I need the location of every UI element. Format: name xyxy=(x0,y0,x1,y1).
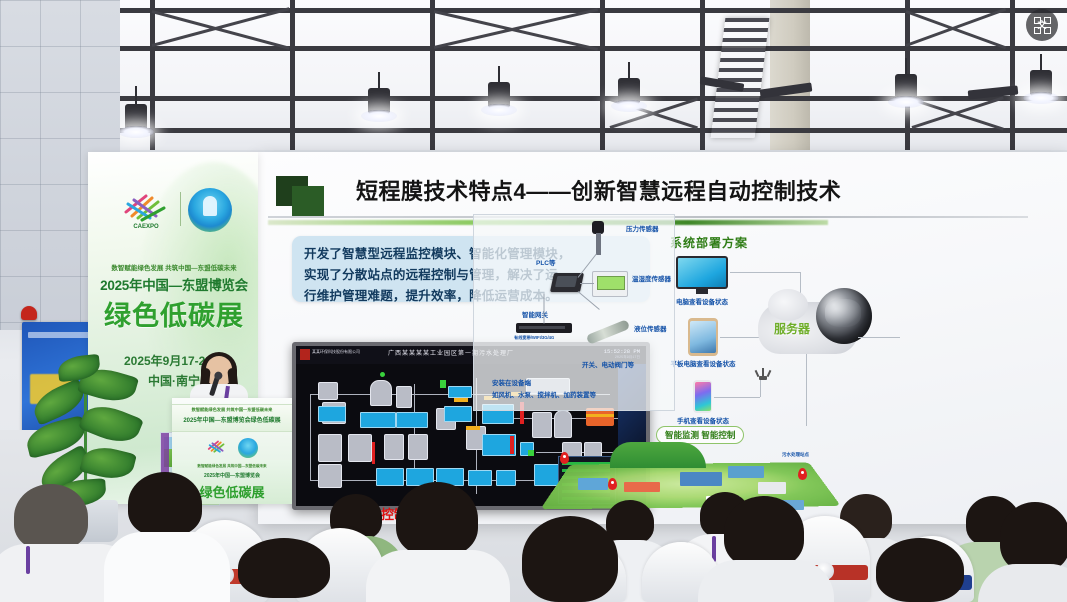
sensor-label-temp: 温湿度传感器 xyxy=(632,275,671,284)
gateway-sublabel: 有线宽带/WIFI/3G/4G xyxy=(514,335,554,341)
status-indicator xyxy=(454,398,468,402)
temp-humidity-sensor-icon xyxy=(592,271,628,297)
audience-shoulders xyxy=(366,550,510,602)
audience-head xyxy=(606,500,654,544)
panel-heading-bar xyxy=(28,332,90,338)
podium-tagline: 数智赋能绿色发展 共筑中国—东盟低碳未来 xyxy=(172,407,292,413)
caexpo-logo-icon: CAEXPO xyxy=(120,190,172,230)
connector-line xyxy=(544,294,545,324)
scada-company-name: 某某环保科技股份有限公司 xyxy=(312,349,360,355)
diagram-title: 系统部署方案 xyxy=(670,234,748,251)
audience-head xyxy=(238,538,330,598)
audience-shoulders xyxy=(698,560,834,602)
truss-post xyxy=(430,0,435,150)
banner-title-line2: 绿色低碳展 xyxy=(96,294,252,333)
truss-post xyxy=(700,0,705,150)
server-label: 服务器 xyxy=(774,320,810,337)
process-tank xyxy=(318,406,346,422)
translate-glyph: 文 xyxy=(1034,17,1051,34)
connector-line xyxy=(714,397,760,398)
wifi-router-icon xyxy=(752,368,774,380)
truss-post xyxy=(1010,0,1015,150)
pressure-sensor-icon xyxy=(592,221,604,255)
process-tank xyxy=(444,406,472,422)
status-led xyxy=(380,372,385,377)
sensor-label-level: 液位传感器 xyxy=(634,325,667,334)
level-sensor-icon xyxy=(586,319,631,345)
scan-frame-icon: 文 xyxy=(1034,17,1051,34)
cloud-server-node: 服务器 xyxy=(758,302,858,354)
audience-area xyxy=(0,442,1067,602)
client-device-monitor: 电脑查看设备状态 xyxy=(676,256,728,289)
sensor-label-pressure: 压力传感器 xyxy=(626,225,659,234)
client-label-pc: 电脑查看设备状态 xyxy=(667,298,737,307)
process-tank xyxy=(360,412,396,428)
truss-post xyxy=(150,0,155,150)
title-square-icon xyxy=(292,186,324,216)
plc-label: PLC等 xyxy=(536,259,556,268)
equipment-stripe xyxy=(586,414,614,417)
client-device-phone: 手机查看设备状态 xyxy=(693,380,712,413)
audience-head xyxy=(128,472,202,536)
process-tank xyxy=(448,386,472,398)
process-vessel xyxy=(532,412,552,438)
audience-lanyard xyxy=(26,546,30,574)
connector-line xyxy=(730,272,800,273)
slide-title: 短程膜技术特点4——创新智慧远程自动控制技术 xyxy=(356,174,841,206)
client-label-tablet: 平板电脑查看设备状态 xyxy=(668,360,738,369)
banner-tagline: 数智赋能绿色发展 共筑中国—东盟低碳未来 xyxy=(96,262,252,272)
stage-light xyxy=(895,74,917,100)
conference-photo-scene: 短程膜技术特点4——创新智慧远程自动控制技术 开发了智慧型远程监控模块、智能化管… xyxy=(0,0,1067,602)
stage-light xyxy=(488,82,510,108)
alarm-bell-icon xyxy=(21,306,37,320)
connector-line xyxy=(806,354,807,406)
stage-light xyxy=(1030,70,1052,96)
translate-scan-button[interactable]: 文 xyxy=(1026,9,1058,41)
audience-head xyxy=(396,482,478,556)
status-indicator xyxy=(466,426,480,430)
client-label-phone: 手机查看设备状态 xyxy=(668,417,738,426)
audience-head xyxy=(1000,502,1067,572)
logo-divider xyxy=(180,192,181,226)
connector-line xyxy=(760,380,761,397)
install-note-2: 如风机、水泵、搅拌机、加药装置等 xyxy=(492,391,596,400)
stage-light xyxy=(368,88,390,114)
truss-brace xyxy=(152,10,290,50)
process-vessel xyxy=(396,386,412,408)
audience-head xyxy=(14,484,88,550)
nanning-emblem-icon xyxy=(188,188,232,232)
stage-light xyxy=(125,104,147,130)
gateway-device-icon xyxy=(516,323,572,333)
process-vessel xyxy=(370,380,392,406)
svg-text:CAEXPO: CAEXPO xyxy=(133,224,159,230)
process-tank xyxy=(396,412,428,428)
podium-title: 2025年中国—东盟博览会绿色低碳展 xyxy=(172,415,292,424)
monitor-icon xyxy=(676,256,728,289)
audience-head xyxy=(522,516,618,602)
tablet-icon xyxy=(688,318,718,356)
stage-light xyxy=(618,78,640,104)
audience-shoulders xyxy=(104,532,230,602)
connector-line xyxy=(580,283,594,284)
client-device-tablet: 平板电脑查看设备状态 xyxy=(688,318,718,356)
phone-icon xyxy=(693,380,712,413)
truss-post xyxy=(600,0,605,150)
site-equipment-group: PLC等 智能网关 有线宽带/WIFI/3G/4G 压力传感器 温湿度传感器 液… xyxy=(473,214,675,411)
audience-head xyxy=(876,538,964,602)
globe-icon xyxy=(816,288,872,344)
connector-line xyxy=(858,337,900,338)
ceiling-truss-area xyxy=(0,0,1067,150)
install-note-1: 安装在设备端 xyxy=(492,379,531,388)
audience-head xyxy=(724,496,804,568)
process-vessel xyxy=(318,382,338,400)
status-led xyxy=(440,380,446,388)
banner-title-line1: 2025年中国—东盟博览会 xyxy=(96,274,252,294)
truss-post xyxy=(290,0,295,150)
connector-line xyxy=(806,406,807,426)
actuator-label: 开关、电动阀门等 xyxy=(582,361,634,370)
process-vessel xyxy=(554,410,572,438)
service-stairway xyxy=(711,18,770,138)
